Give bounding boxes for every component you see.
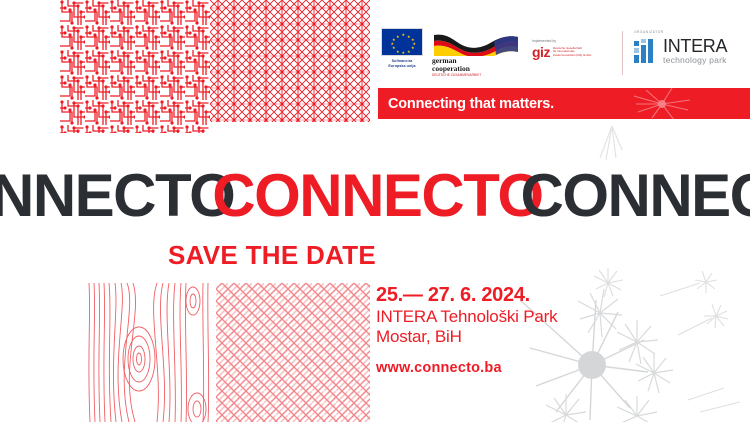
slogan-text: Connecting that matters. bbox=[388, 96, 554, 112]
logo-divider bbox=[622, 31, 623, 75]
connecto-word: CONNECTO bbox=[521, 160, 750, 232]
intera-organizer-logo: ORGANIZATOR INTERA technology park bbox=[634, 28, 727, 65]
giz-descriptor: Deutsche Gesellschaft für Internationale… bbox=[553, 47, 591, 58]
giz-implemented-by-label: Implemented by bbox=[532, 39, 612, 43]
german-cooperation-ribbon-icon bbox=[432, 32, 520, 56]
event-date: 25.— 27. 6. 2024. bbox=[376, 283, 606, 307]
save-the-date-heading: SAVE THE DATE bbox=[168, 240, 376, 271]
eu-caption-line1: Sufinancira bbox=[392, 59, 413, 63]
eu-caption: Sufinancira Europska unija bbox=[388, 59, 415, 68]
german-cooperation-title: german cooperation bbox=[432, 57, 524, 72]
banner-dandelion-icon bbox=[602, 88, 722, 119]
event-venue: INTERA Tehnološki Park bbox=[376, 307, 606, 327]
connecto-word: CONNECTO bbox=[212, 160, 542, 232]
poster-canvas: ★ ★ ★ ★ ★ ★ ★ ★ ★ ★ ★ ★ Sufinancira Euro… bbox=[0, 0, 750, 422]
event-details-block: 25.— 27. 6. 2024. INTERA Tehnološki Park… bbox=[376, 283, 606, 376]
gc-title-line2: cooperation bbox=[432, 64, 470, 73]
intera-tagline: technology park bbox=[663, 56, 727, 65]
german-cooperation-logo: german cooperation DEUTSCHE ZUSAMMENARBE… bbox=[432, 28, 524, 77]
german-cooperation-subtitle: DEUTSCHE ZUSAMMENARBEIT bbox=[432, 74, 524, 78]
wood-grain-pattern bbox=[85, 283, 213, 422]
diamond-lattice-pattern bbox=[210, 0, 370, 122]
event-city: Mostar, BiH bbox=[376, 327, 606, 347]
organizer-label: ORGANIZATOR bbox=[634, 30, 727, 34]
eu-flag-icon: ★ ★ ★ ★ ★ ★ ★ ★ ★ ★ ★ ★ bbox=[381, 28, 423, 56]
intera-mark-icon bbox=[634, 39, 658, 63]
herringbone-pattern bbox=[216, 283, 370, 422]
giz-descriptor-line3: Zusammenarbeit (GIZ) GmbH bbox=[553, 53, 591, 57]
circuit-board-pattern bbox=[60, 0, 210, 133]
partner-logo-bar: ★ ★ ★ ★ ★ ★ ★ ★ ★ ★ ★ ★ Sufinancira Euro… bbox=[378, 28, 743, 80]
slogan-banner: Connecting that matters. bbox=[378, 88, 750, 119]
giz-wordmark: giz bbox=[532, 45, 550, 59]
eu-caption-line2: Europska unija bbox=[388, 64, 415, 68]
connecto-marquee-track: CONNECTOCONNECTOCONNECTOCONNECTO bbox=[0, 160, 750, 232]
eu-logo: ★ ★ ★ ★ ★ ★ ★ ★ ★ ★ ★ ★ Sufinancira Euro… bbox=[378, 28, 426, 68]
giz-logo: Implemented by giz Deutsche Gesellschaft… bbox=[532, 28, 612, 59]
connecto-word: CONNECTO bbox=[0, 160, 234, 232]
event-url[interactable]: www.connecto.ba bbox=[376, 360, 606, 376]
connecto-marquee-band: CONNECTOCONNECTOCONNECTOCONNECTO bbox=[0, 160, 750, 232]
intera-name: INTERA bbox=[663, 37, 727, 55]
